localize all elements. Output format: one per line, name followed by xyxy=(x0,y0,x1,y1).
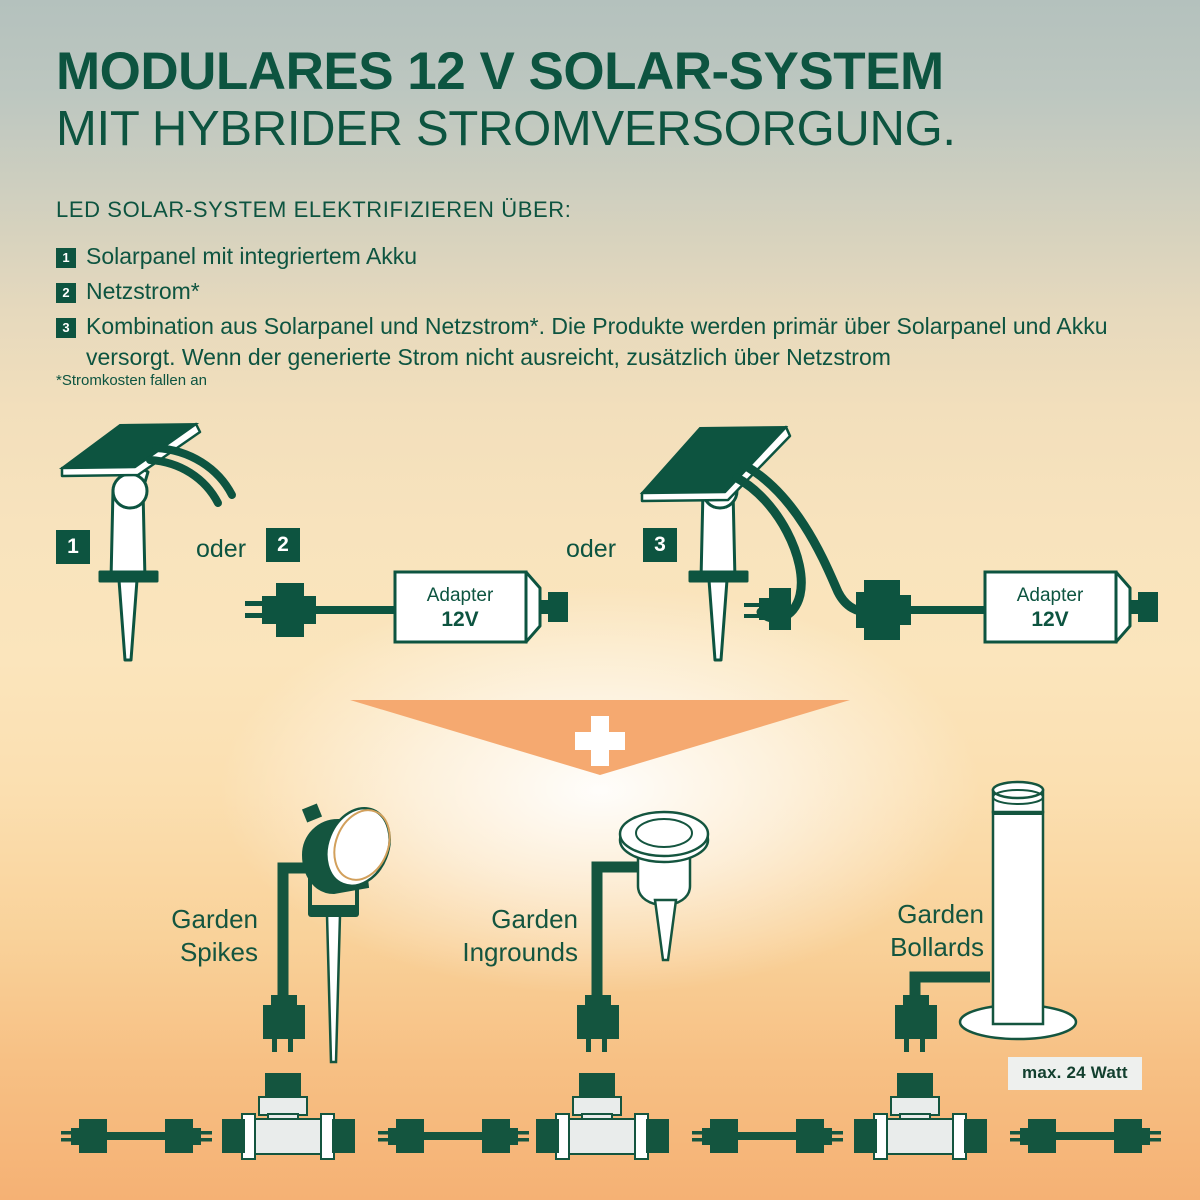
infographic-canvas: MODULARES 12 V SOLAR-SYSTEM MIT HYBRIDER… xyxy=(0,0,1200,1200)
t-connector xyxy=(536,1073,669,1159)
cable-segment xyxy=(1010,1119,1161,1153)
cable-segment xyxy=(61,1119,212,1153)
t-connector xyxy=(854,1073,987,1159)
cable-segment xyxy=(378,1119,529,1153)
cable-segment xyxy=(692,1119,843,1153)
bottom-cable-bus xyxy=(0,0,1200,1200)
t-connector xyxy=(222,1073,355,1159)
